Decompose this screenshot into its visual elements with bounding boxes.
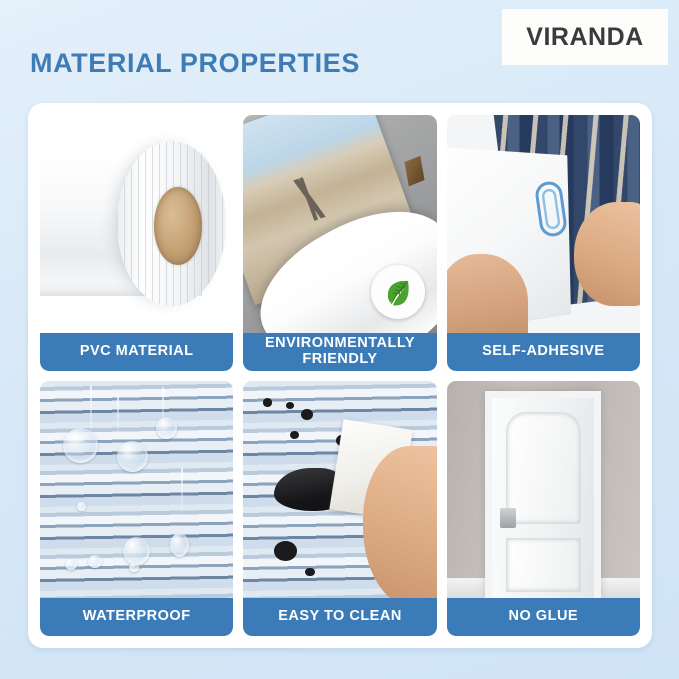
feature-label-self-adhesive: SELF-ADHESIVE: [447, 333, 640, 371]
waterproof-photo: [40, 381, 233, 599]
door-frame-shape: [485, 391, 601, 598]
feature-tile-easy-to-clean[interactable]: EASY TO CLEAN: [243, 381, 436, 637]
door-photo: [447, 381, 640, 599]
self-adhesive-photo: [447, 115, 640, 333]
feature-tile-waterproof[interactable]: WATERPROOF: [40, 381, 233, 637]
easy-to-clean-photo: [243, 381, 436, 599]
page-title: MATERIAL PROPERTIES: [30, 48, 360, 79]
door-panel-bottom: [506, 538, 582, 592]
feature-label-easy-to-clean: EASY TO CLEAN: [243, 598, 436, 636]
header: MATERIAL PROPERTIES VIRANDA: [0, 0, 679, 103]
leaf-icon: [381, 275, 415, 309]
door-panel-top: [506, 412, 582, 524]
feature-label-no-glue: NO GLUE: [447, 598, 640, 636]
pvc-roll-photo: [40, 115, 233, 333]
baseboard-left: [447, 578, 488, 598]
eco-roll-photo: [243, 115, 436, 333]
feature-tile-environmentally-friendly[interactable]: ENVIRONMENTALLY FRIENDLY: [243, 115, 436, 371]
brand-logo-box: VIRANDA: [502, 9, 668, 65]
feature-tile-no-glue[interactable]: NO GLUE: [447, 381, 640, 637]
brand-name: VIRANDA: [526, 23, 643, 52]
feature-tile-self-adhesive[interactable]: SELF-ADHESIVE: [447, 115, 640, 371]
features-grid: PVC MATERIAL: [40, 115, 640, 636]
feature-label-waterproof: WATERPROOF: [40, 598, 233, 636]
baseboard-right: [599, 578, 640, 598]
feature-label-environmentally-friendly: ENVIRONMENTALLY FRIENDLY: [243, 333, 436, 371]
door-handle-icon: [500, 508, 515, 528]
features-card: PVC MATERIAL: [28, 103, 652, 648]
feature-tile-pvc-material[interactable]: PVC MATERIAL: [40, 115, 233, 371]
feature-label-pvc-material: PVC MATERIAL: [40, 333, 233, 371]
door-leaf-shape: [492, 398, 594, 598]
